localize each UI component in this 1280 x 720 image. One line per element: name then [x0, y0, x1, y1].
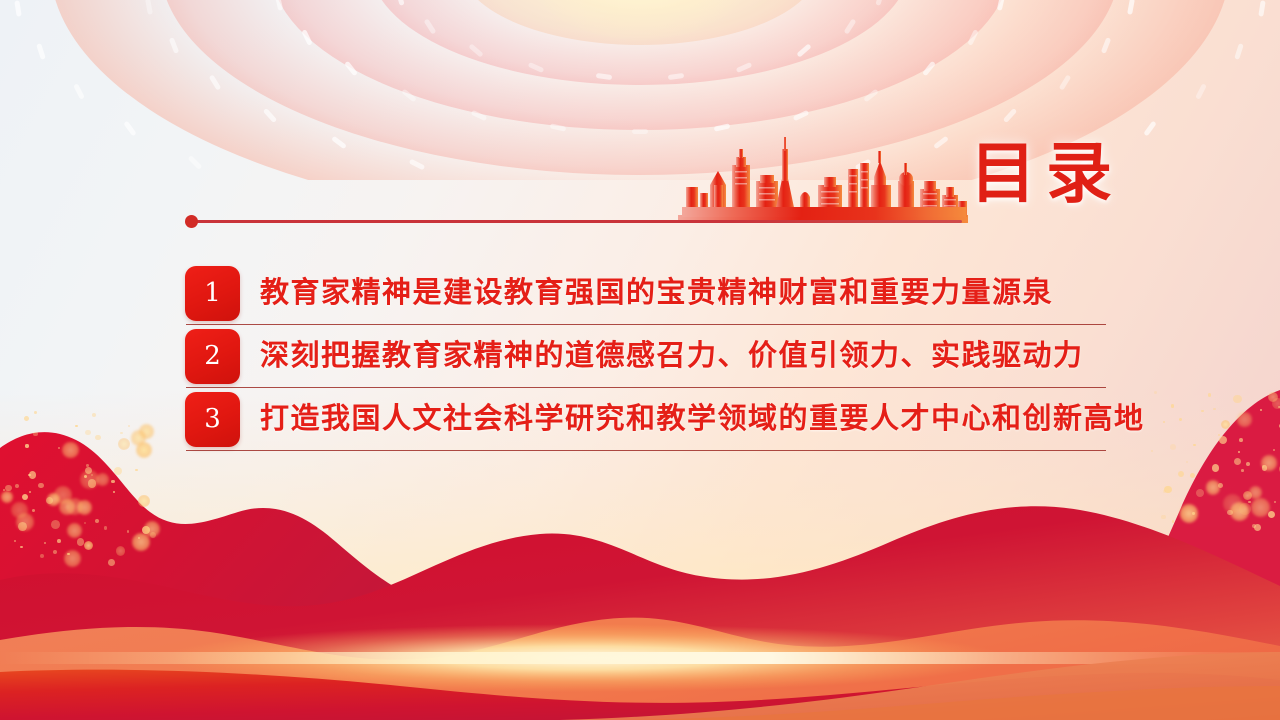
toc-number-badge: 3: [185, 392, 240, 447]
toc-separator: [186, 450, 1106, 451]
toc-number-badge: 2: [185, 329, 240, 384]
medallion-ring-inner: [460, 0, 820, 45]
toc-item-3[interactable]: 3打造我国人文社会科学研究和教学领域的重要人才中心和创新高地: [185, 388, 1115, 450]
table-of-contents: 1教育家精神是建设教育强国的宝贵精神财富和重要力量源泉2深刻把握教育家精神的道德…: [185, 262, 1115, 451]
toc-item-2[interactable]: 2深刻把握教育家精神的道德感召力、价值引领力、实践驱动力: [185, 325, 1115, 387]
slide-canvas: 目录 1教育家精神是建设教育强国的宝贵精神财富和重要力量源泉2深刻把握教育家精神…: [0, 0, 1280, 720]
header-divider-line: [192, 220, 962, 223]
toc-item-1[interactable]: 1教育家精神是建设教育强国的宝贵精神财富和重要力量源泉: [185, 262, 1115, 324]
toc-number-badge: 1: [185, 266, 240, 321]
toc-item-label: 深刻把握教育家精神的道德感召力、价值引领力、实践驱动力: [260, 340, 1084, 372]
toc-item-label: 打造我国人文社会科学研究和教学领域的重要人才中心和创新高地: [260, 403, 1145, 435]
header-divider-dot: [185, 215, 198, 228]
medallion-ring-3: [270, 0, 1010, 130]
medallion-ring-4: [370, 0, 910, 85]
page-title: 目录: [970, 140, 1122, 206]
star-glow: [525, 0, 755, 40]
toc-item-label: 教育家精神是建设教育强国的宝贵精神财富和重要力量源泉: [260, 277, 1053, 309]
city-skyline-icon: [678, 135, 968, 225]
